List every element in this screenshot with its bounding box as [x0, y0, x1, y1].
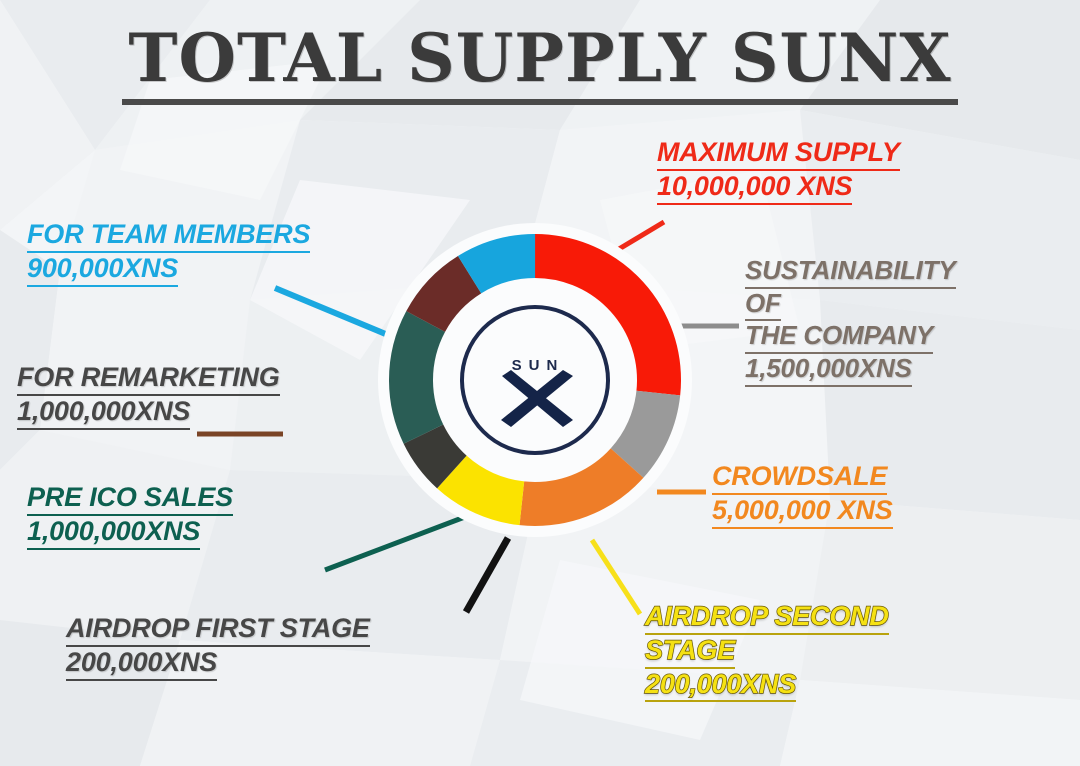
- callout-remarketing-line2: 1,000,000XNS: [17, 396, 190, 430]
- callout-pre-ico-sales-line2: 1,000,000XNS: [27, 516, 200, 550]
- callout-sustainability: SUSTAINABILITY OF THE COMPANY 1,500,000X…: [745, 256, 956, 387]
- callout-maximum-supply-line2: 10,000,000 XNS: [657, 171, 852, 205]
- callout-sustainability-line3: THE COMPANY: [745, 321, 933, 354]
- logo-word-sun: SUN: [512, 357, 565, 374]
- callout-sustainability-line4: 1,500,000XNS: [745, 354, 912, 387]
- callout-airdrop-second-stage: AIRDROP SECOND STAGE 200,000XNS: [645, 601, 889, 702]
- callout-team-members: FOR TEAM MEMBERS 900,000XNS: [27, 219, 310, 287]
- callout-crowdsale-line1: CROWDSALE: [712, 461, 887, 495]
- callout-airdrop-first-stage-line2: 200,000XNS: [66, 647, 217, 681]
- callout-team-members-line1: FOR TEAM MEMBERS: [27, 219, 310, 253]
- donut-chart: SUN: [377, 222, 693, 538]
- callout-crowdsale-line2: 5,000,000 XNS: [712, 495, 893, 529]
- callout-pre-ico-sales-line1: PRE ICO SALES: [27, 482, 233, 516]
- callout-maximum-supply: MAXIMUM SUPPLY 10,000,000 XNS: [657, 137, 900, 205]
- callout-sustainability-line2: OF: [745, 289, 781, 322]
- callout-team-members-line2: 900,000XNS: [27, 253, 178, 287]
- callout-airdrop-second-stage-line3: 200,000XNS: [645, 669, 796, 703]
- callout-crowdsale: CROWDSALE 5,000,000 XNS: [712, 461, 893, 529]
- callout-airdrop-second-stage-line1: AIRDROP SECOND: [645, 601, 889, 635]
- callout-remarketing-line1: FOR REMARKETING: [17, 362, 280, 396]
- callout-airdrop-second-stage-line2: STAGE: [645, 635, 735, 669]
- infographic-poster: TOTAL SUPPLY SUNX: [0, 0, 1080, 766]
- callout-sustainability-line1: SUSTAINABILITY: [745, 256, 956, 289]
- callout-maximum-supply-line1: MAXIMUM SUPPLY: [657, 137, 900, 171]
- callout-remarketing: FOR REMARKETING 1,000,000XNS: [17, 362, 280, 430]
- page-title: TOTAL SUPPLY SUNX: [122, 24, 957, 105]
- callout-airdrop-first-stage-line1: AIRDROP FIRST STAGE: [66, 613, 370, 647]
- title-block: TOTAL SUPPLY SUNX: [0, 24, 1080, 105]
- callout-pre-ico-sales: PRE ICO SALES 1,000,000XNS: [27, 482, 233, 550]
- callout-airdrop-first-stage: AIRDROP FIRST STAGE 200,000XNS: [66, 613, 370, 681]
